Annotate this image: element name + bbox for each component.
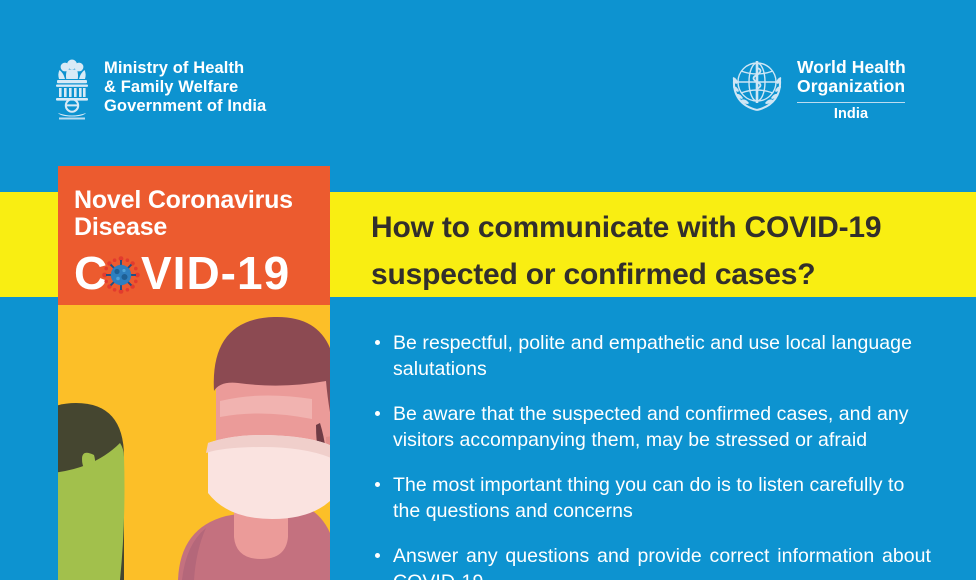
two-people-one-masked-illustration (58, 305, 330, 580)
coronavirus-icon (102, 256, 140, 294)
listener-figure (58, 403, 125, 580)
left-panel: Novel Coronavirus Disease C (58, 166, 330, 580)
ministry-of-health-logo: Ministry of Health & Family Welfare Gove… (52, 58, 266, 125)
who-country-label: India (797, 106, 905, 123)
covid-letters-rest: VID-19 (141, 249, 290, 297)
list-item: Be respectful, polite and empathetic and… (371, 330, 931, 382)
novel-coronavirus-line-1: Novel Coronavirus (74, 187, 330, 214)
list-item-text: Be aware that the suspected and confirme… (393, 401, 931, 453)
list-item: The most important thing you can do is t… (371, 472, 931, 524)
novel-coronavirus-line-2: Disease (74, 214, 330, 241)
bullet-dot-icon (375, 482, 380, 487)
who-divider (797, 102, 905, 104)
who-text: World Health Organization India (797, 58, 906, 123)
who-logo: World Health Organization India (728, 56, 906, 123)
list-item: Answer any questions and provide correct… (371, 543, 931, 580)
bullet-dot-icon (375, 411, 380, 416)
covid-19-wordmark: C (74, 249, 330, 297)
ministry-line-3: Government of India (104, 97, 266, 116)
headline-line-2: suspected or confirmed cases? (371, 251, 941, 298)
list-item: Be aware that the suspected and confirme… (371, 401, 931, 453)
ministry-of-health-text: Ministry of Health & Family Welfare Gove… (104, 59, 266, 116)
guidance-bullet-list: Be respectful, polite and empathetic and… (371, 330, 931, 580)
header: Ministry of Health & Family Welfare Gove… (0, 0, 976, 160)
who-emblem-icon (728, 56, 786, 119)
covid-19-title-card: Novel Coronavirus Disease C (58, 166, 330, 305)
list-item-text: Answer any questions and provide correct… (393, 543, 931, 580)
who-line-1: World Health (797, 58, 906, 77)
ministry-line-1: Ministry of Health (104, 59, 266, 78)
bullet-dot-icon (375, 340, 380, 345)
who-line-2: Organization (797, 77, 906, 96)
list-item-text: Be respectful, polite and empathetic and… (393, 330, 931, 382)
ashoka-emblem-icon (52, 58, 92, 125)
covid-19-communication-poster: Ministry of Health & Family Welfare Gove… (0, 0, 976, 580)
page-title: How to communicate with COVID-19 suspect… (371, 204, 941, 298)
bullet-dot-icon (375, 553, 380, 558)
list-item-text: The most important thing you can do is t… (393, 472, 931, 524)
ministry-line-2: & Family Welfare (104, 78, 266, 97)
headline-line-1: How to communicate with COVID-19 (371, 204, 941, 251)
